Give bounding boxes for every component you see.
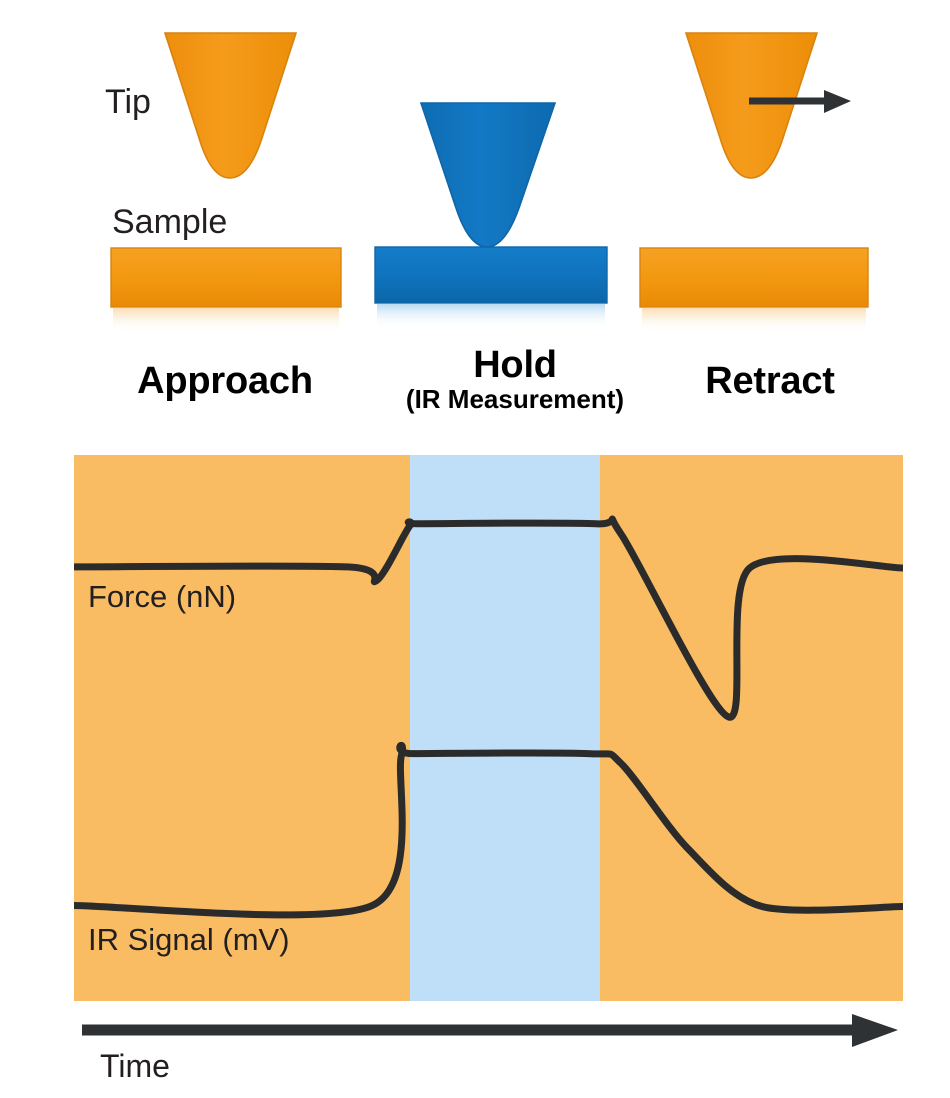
caption-hold: Hold (IR Measurement) xyxy=(370,346,660,413)
caption-retract-main: Retract xyxy=(620,362,920,402)
sample-reflection-approach xyxy=(113,307,339,333)
time-axis-arrow xyxy=(74,1010,904,1050)
panel-retract xyxy=(640,33,868,333)
caption-hold-main: Hold xyxy=(370,346,660,386)
afm-tip-approach xyxy=(165,33,296,178)
schematic-svg xyxy=(0,0,950,345)
afm-schematic: Tip Sample xyxy=(0,0,950,345)
caption-approach: Approach xyxy=(60,362,390,402)
ir-axis-label: IR Signal (mV) xyxy=(88,924,290,955)
sample-bar-hold xyxy=(375,247,607,303)
ir-signal-curve xyxy=(74,745,903,915)
signal-plot: Force (nN) IR Signal (mV) xyxy=(74,455,903,1001)
panel-approach xyxy=(111,33,341,333)
sample-bar-retract xyxy=(640,248,868,307)
figure-root: Tip Sample Approach Hold (IR Measurement… xyxy=(0,0,950,1098)
caption-approach-main: Approach xyxy=(60,362,390,402)
force-curve xyxy=(74,519,903,717)
time-axis-label: Time xyxy=(100,1050,170,1082)
stage-captions: Approach Hold (IR Measurement) Retract xyxy=(0,350,950,445)
caption-hold-sub: (IR Measurement) xyxy=(370,386,660,413)
afm-tip-hold xyxy=(421,103,555,247)
sample-label: Sample xyxy=(112,205,227,239)
tip-label: Tip xyxy=(105,85,151,119)
afm-tip-retract xyxy=(686,33,817,178)
force-axis-label: Force (nN) xyxy=(88,581,236,612)
panel-hold xyxy=(375,103,607,329)
sample-bar-approach xyxy=(111,248,341,307)
caption-retract: Retract xyxy=(620,362,920,402)
sample-reflection-retract xyxy=(642,307,866,333)
plot-curves-svg xyxy=(74,455,903,1001)
sample-reflection-hold xyxy=(377,303,605,329)
